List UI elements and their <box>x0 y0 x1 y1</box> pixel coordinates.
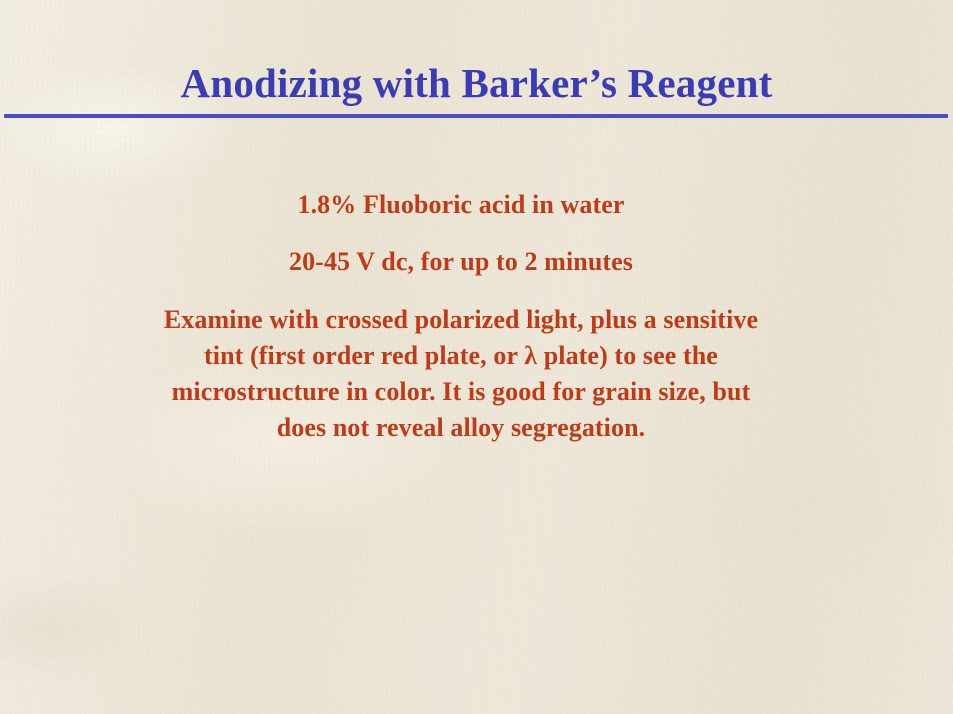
body-paragraph-line: tint (first order red plate, or λ plate)… <box>66 338 856 374</box>
slide-title-block: Anodizing with Barker’s Reagent <box>0 60 953 106</box>
body-paragraph-line: microstructure in color. It is good for … <box>66 374 856 410</box>
body-paragraph-line: Examine with crossed polarized light, pl… <box>66 302 856 338</box>
page-title: Anodizing with Barker’s Reagent <box>0 60 953 106</box>
body-line-voltage-time: 20-45 V dc, for up to 2 minutes <box>66 245 856 279</box>
body-paragraph-examination: Examine with crossed polarized light, pl… <box>66 302 856 446</box>
body-line-reagent-concentration: 1.8% Fluoboric acid in water <box>66 188 856 222</box>
body-paragraph-line: does not reveal alloy segregation. <box>66 410 856 446</box>
title-divider-rule <box>4 114 948 118</box>
slide-body-block: 1.8% Fluoboric acid in water 20-45 V dc,… <box>66 188 856 446</box>
presentation-slide: Anodizing with Barker’s Reagent 1.8% Flu… <box>0 0 953 714</box>
